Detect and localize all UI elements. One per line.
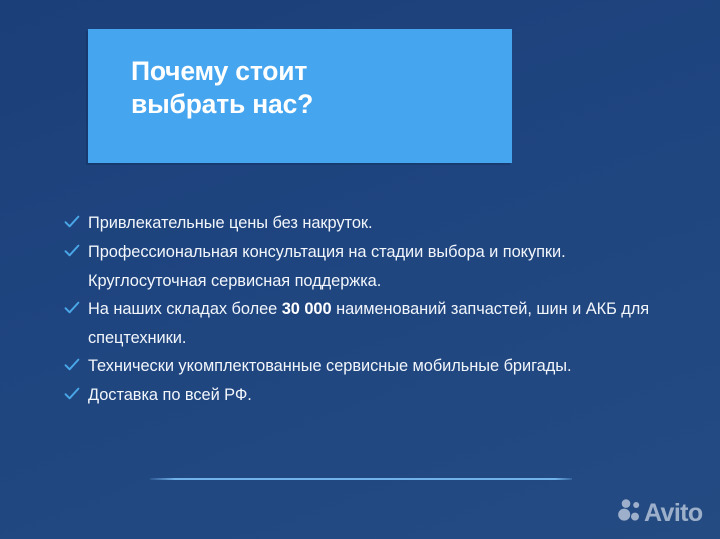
inventory-count: 30 000 bbox=[282, 300, 332, 318]
list-item: На наших складах более 30 000 наименован… bbox=[64, 295, 664, 352]
page-title: Почему стоит выбрать нас? bbox=[131, 55, 481, 122]
list-item: Привлекательные цены без накруток. bbox=[64, 209, 664, 238]
avito-watermark: Avito bbox=[618, 499, 703, 527]
slide-canvas: Почему стоит выбрать нас? Привлекательны… bbox=[0, 0, 720, 539]
list-item: Доставка по всей РФ. bbox=[64, 381, 664, 410]
list-item-label: Привлекательные цены без накруток. bbox=[88, 209, 664, 238]
list-item-label: Доставка по всей РФ. bbox=[88, 381, 664, 410]
list-item-label: Профессиональная консультация на стадии … bbox=[88, 238, 664, 295]
list-item: Технически укомплектованные сервисные мо… bbox=[64, 352, 664, 381]
benefits-list: Привлекательные цены без накруток. Профе… bbox=[64, 209, 664, 410]
avito-wordmark: Avito bbox=[644, 501, 703, 526]
check-icon bbox=[64, 295, 88, 324]
check-icon bbox=[64, 238, 88, 267]
check-icon bbox=[64, 209, 88, 238]
list-item-label: Технически укомплектованные сервисные мо… bbox=[88, 352, 664, 381]
avito-dots-icon bbox=[618, 499, 641, 527]
list-item-text-before: На наших складах более bbox=[88, 300, 282, 318]
list-item: Профессиональная консультация на стадии … bbox=[64, 238, 664, 295]
divider bbox=[150, 478, 572, 480]
check-icon bbox=[64, 381, 88, 410]
heading-box: Почему стоит выбрать нас? bbox=[88, 29, 512, 163]
list-item-label: На наших складах более 30 000 наименован… bbox=[88, 295, 664, 352]
check-icon bbox=[64, 352, 88, 381]
